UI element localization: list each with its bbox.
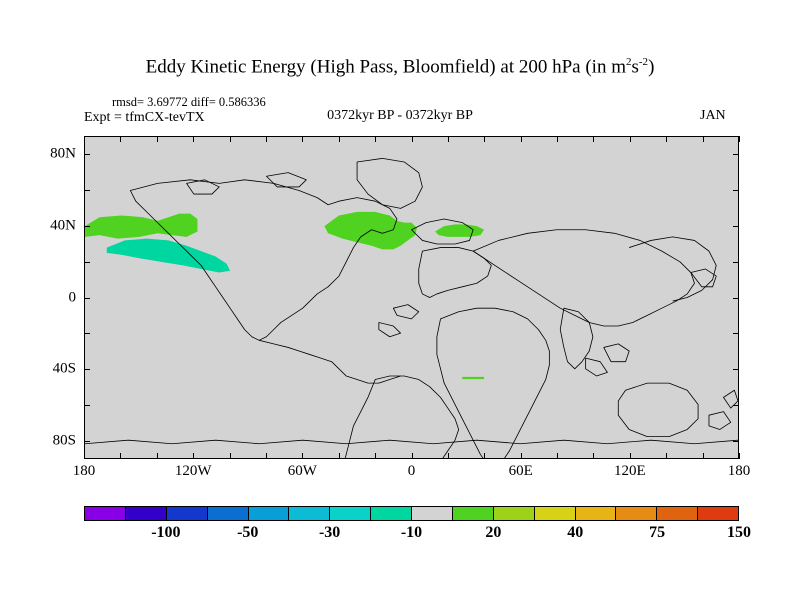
region-north-pacific-negative [107,239,230,273]
x-axis-label: 180 [728,463,751,480]
colorbar-tick-label: -10 [401,524,422,542]
x-tick-top [666,136,667,142]
x-tick [521,453,522,459]
x-tick [302,453,303,459]
y-tick [84,298,90,299]
x-tick-top [484,136,485,142]
colorbar-tick-label: 20 [485,524,501,542]
x-tick-top [193,136,194,142]
x-axis-label: 0 [408,463,416,480]
y-tick-right [733,226,739,227]
colorbar [84,506,739,521]
region-southern-ocean-positive [462,377,484,379]
x-tick-top [739,136,740,142]
page-title: Eddy Kinetic Energy (High Pass, Bloomfie… [0,56,800,78]
colorbar-tick-label: 40 [567,524,583,542]
y-axis-label: 80N [30,145,76,162]
y-tick-right [733,262,739,263]
x-tick [448,453,449,459]
colorbar-tick-label: -30 [319,524,340,542]
y-tick-right [733,441,739,442]
x-axis-label: 60E [509,463,533,480]
colorbar-segment-8 [412,507,453,520]
x-tick [193,453,194,459]
region-north-pacific-positive [85,214,197,239]
x-tick-top [557,136,558,142]
x-tick [630,453,631,459]
x-tick [412,453,413,459]
x-tick-top [339,136,340,142]
title-mid: s [631,56,638,77]
y-tick-right [733,333,739,334]
colorbar-segment-15 [698,507,738,520]
x-tick-top [630,136,631,142]
y-tick [84,405,90,406]
x-tick-top [375,136,376,142]
colorbar-tick-label: 75 [649,524,665,542]
x-tick-top [302,136,303,142]
x-tick [375,453,376,459]
x-tick [593,453,594,459]
x-tick [120,453,121,459]
x-tick-top [703,136,704,142]
y-axis-label: 40N [30,217,76,234]
x-tick [339,453,340,459]
colorbar-tick-label: -50 [237,524,258,542]
colorbar-segment-13 [616,507,657,520]
x-tick-top [230,136,231,142]
colorbar-segment-9 [453,507,494,520]
world-map-plot [84,136,739,459]
colorbar-segment-10 [494,507,535,520]
x-tick-top [521,136,522,142]
colorbar-segment-14 [657,507,698,520]
y-tick-right [733,405,739,406]
y-tick [84,190,90,191]
y-axis-label: 0 [30,289,76,306]
title-exponent-2: -2 [639,56,648,68]
x-tick [666,453,667,459]
colorbar-segment-2 [167,507,208,520]
colorbar-segment-6 [330,507,371,520]
y-axis-label: 40S [30,361,76,378]
x-tick [266,453,267,459]
map-svg [85,137,738,458]
x-axis-label: 120W [175,463,212,480]
x-tick-top [157,136,158,142]
x-tick [230,453,231,459]
y-tick [84,262,90,263]
y-tick [84,441,90,442]
x-axis-label: 180 [73,463,96,480]
y-tick-right [733,190,739,191]
x-axis-label: 120E [614,463,646,480]
colorbar-segment-1 [126,507,167,520]
x-tick-top [266,136,267,142]
coastlines [85,158,738,458]
x-tick [84,453,85,459]
colorbar-segment-5 [289,507,330,520]
x-tick-top [448,136,449,142]
x-tick [557,453,558,459]
x-tick [157,453,158,459]
x-tick [739,453,740,459]
y-tick-right [733,298,739,299]
y-tick-right [733,369,739,370]
title-main: Eddy Kinetic Energy (High Pass, Bloomfie… [146,56,626,77]
y-tick [84,226,90,227]
x-tick-top [84,136,85,142]
title-tail: ) [648,56,654,77]
colorbar-segment-11 [535,507,576,520]
colorbar-segment-7 [371,507,412,520]
x-tick [703,453,704,459]
x-tick-top [412,136,413,142]
x-axis-label: 60W [288,463,317,480]
data-contour-fills [85,212,484,379]
x-tick [484,453,485,459]
colorbar-segment-12 [576,507,617,520]
y-tick [84,154,90,155]
colorbar-segment-3 [208,507,249,520]
x-tick-top [120,136,121,142]
colorbar-segment-4 [249,507,290,520]
x-tick-top [593,136,594,142]
month-label: JAN [700,108,726,124]
colorbar-segment-0 [85,507,126,520]
period-label: 0372kyr BP - 0372kyr BP [0,108,800,124]
colorbar-tick-label: 150 [727,524,751,542]
y-tick [84,333,90,334]
figure-canvas: Eddy Kinetic Energy (High Pass, Bloomfie… [0,0,800,600]
y-axis-label: 80S [30,433,76,450]
colorbar-tick-label: -100 [151,524,180,542]
y-tick-right [733,154,739,155]
y-tick [84,369,90,370]
region-mediterranean-positive [435,224,484,236]
